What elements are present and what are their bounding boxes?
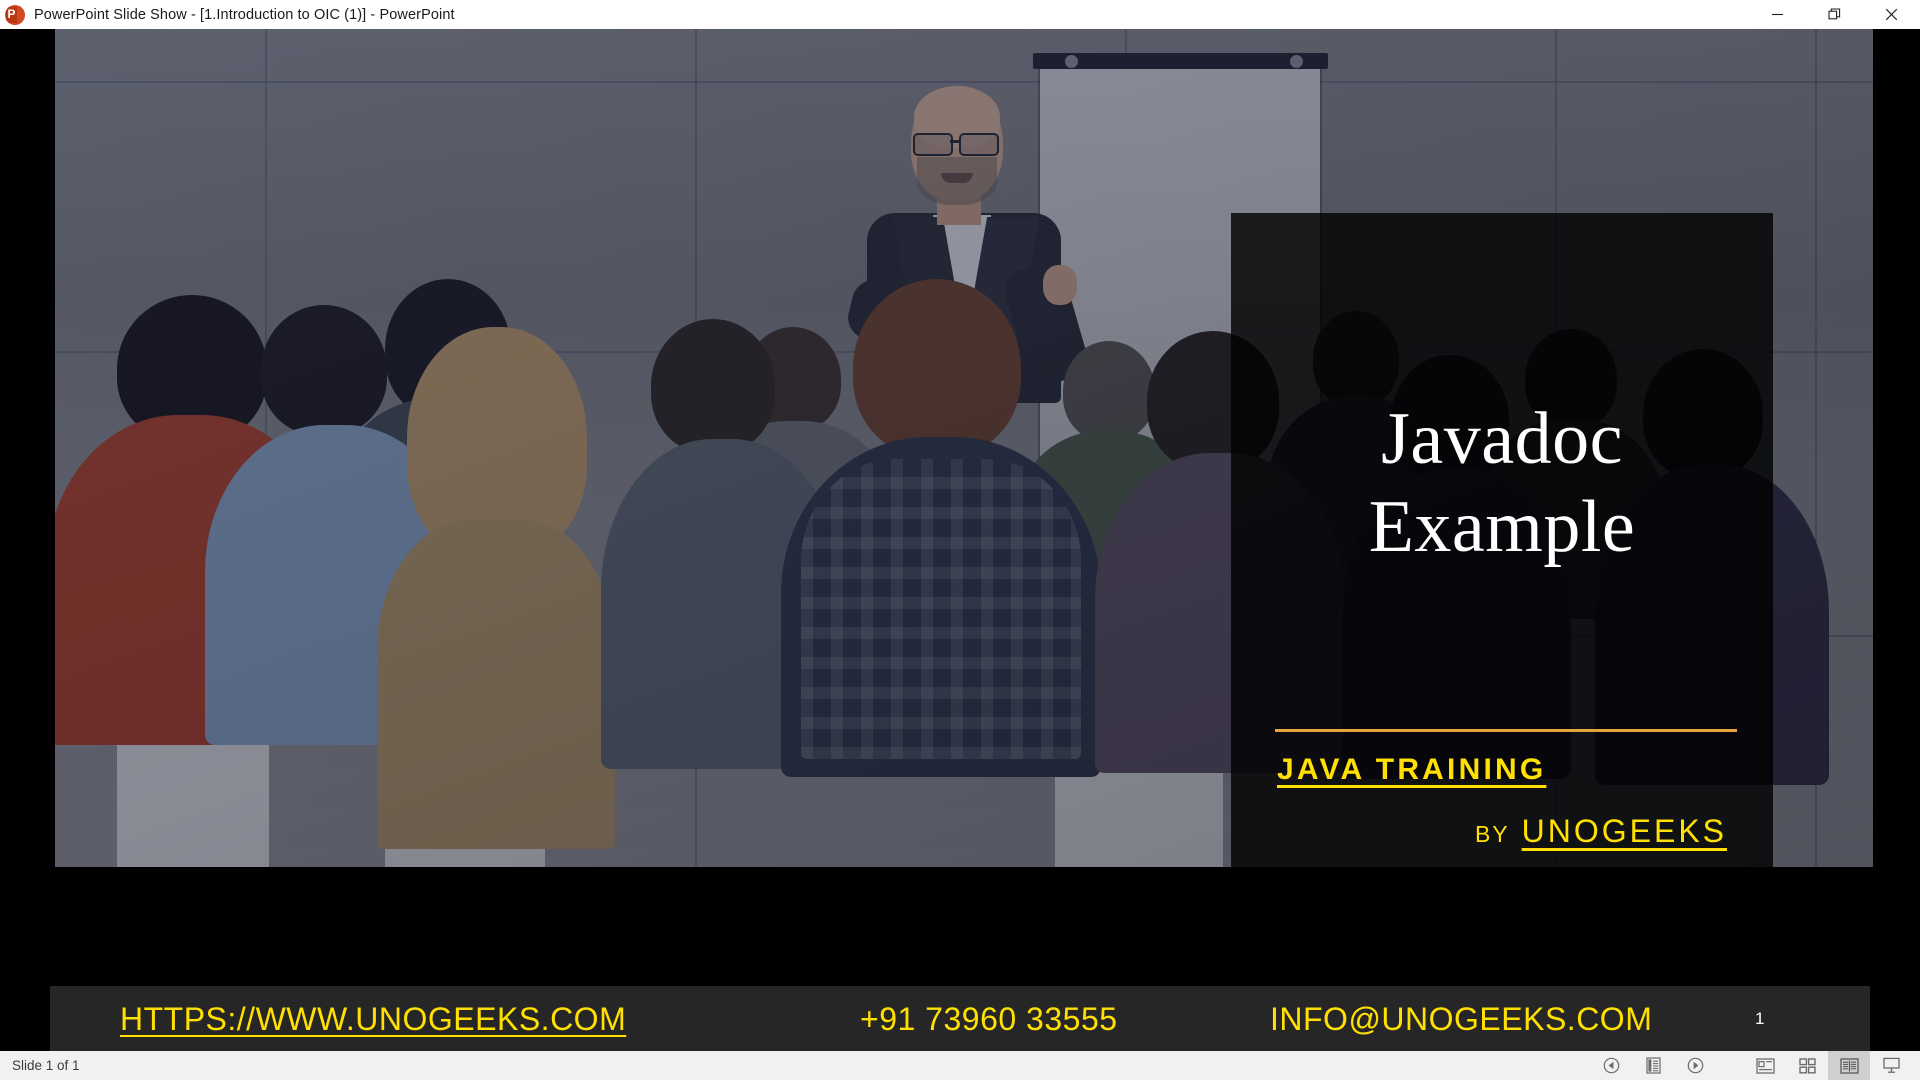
audience-plaid-shirt <box>801 459 1081 759</box>
flipchart-knob <box>1065 55 1078 68</box>
audience-head <box>261 305 387 435</box>
byline: BYUNOGEEKS <box>1475 813 1727 850</box>
glasses-lens-left <box>913 133 953 156</box>
subtitle-java-training: JAVA TRAINING <box>1277 753 1546 787</box>
status-bar-buttons <box>1590 1051 1912 1080</box>
footer-website-link[interactable]: HTTPS://WWW.UNOGEEKS.COM <box>120 1001 626 1038</box>
byline-brand: UNOGEEKS <box>1522 813 1727 849</box>
status-bar: Slide 1 of 1 <box>0 1051 1920 1080</box>
presenter-smile <box>941 173 973 183</box>
window-controls <box>1749 0 1920 29</box>
slide-show-stage[interactable]: Javadoc Example JAVA TRAINING BYUNOGEEKS… <box>0 29 1920 1051</box>
slide-show-icon[interactable] <box>1870 1051 1912 1080</box>
restore-icon[interactable] <box>1806 0 1863 29</box>
slide-sorter-icon[interactable] <box>1786 1051 1828 1080</box>
powerpoint-icon <box>5 5 25 25</box>
glasses-lens-right <box>959 133 999 156</box>
byline-prefix: BY <box>1475 821 1510 847</box>
audience-body <box>377 519 615 849</box>
presenter-hand-right <box>1043 265 1077 305</box>
slide-footer-bar: HTTPS://WWW.UNOGEEKS.COM +91 73960 33555… <box>50 986 1870 1051</box>
page-title: Javadoc Example <box>1231 395 1773 571</box>
normal-view-icon[interactable] <box>1744 1051 1786 1080</box>
glasses-bridge <box>950 140 961 143</box>
audience-head <box>1063 341 1155 441</box>
title-line-2: Example <box>1231 483 1773 571</box>
close-icon[interactable] <box>1863 0 1920 29</box>
slide-number: 1 <box>1755 1009 1764 1029</box>
window-title-bar: PowerPoint Slide Show - [1.Introduction … <box>0 0 1920 29</box>
accent-divider <box>1275 729 1737 732</box>
flipchart-knob <box>1290 55 1303 68</box>
wall-line <box>55 81 1873 83</box>
audience-head <box>651 319 775 453</box>
minimize-icon[interactable] <box>1749 0 1806 29</box>
notes-page-icon[interactable] <box>1632 1051 1674 1080</box>
title-line-1: Javadoc <box>1231 395 1773 483</box>
footer-phone-number: +91 73960 33555 <box>860 1001 1118 1038</box>
slide-indicator: Slide 1 of 1 <box>12 1058 80 1073</box>
window-title: PowerPoint Slide Show - [1.Introduction … <box>34 7 455 23</box>
circle-left-arrow-icon[interactable] <box>1590 1051 1632 1080</box>
title-text-panel: Javadoc Example JAVA TRAINING BYUNOGEEKS <box>1231 213 1773 895</box>
presenter-glasses <box>911 133 1003 153</box>
audience-head <box>853 279 1021 457</box>
footer-email-address[interactable]: INFO@UNOGEEKS.COM <box>1270 1001 1652 1038</box>
reading-view-icon[interactable] <box>1828 1051 1870 1080</box>
circle-right-arrow-icon[interactable] <box>1674 1051 1716 1080</box>
